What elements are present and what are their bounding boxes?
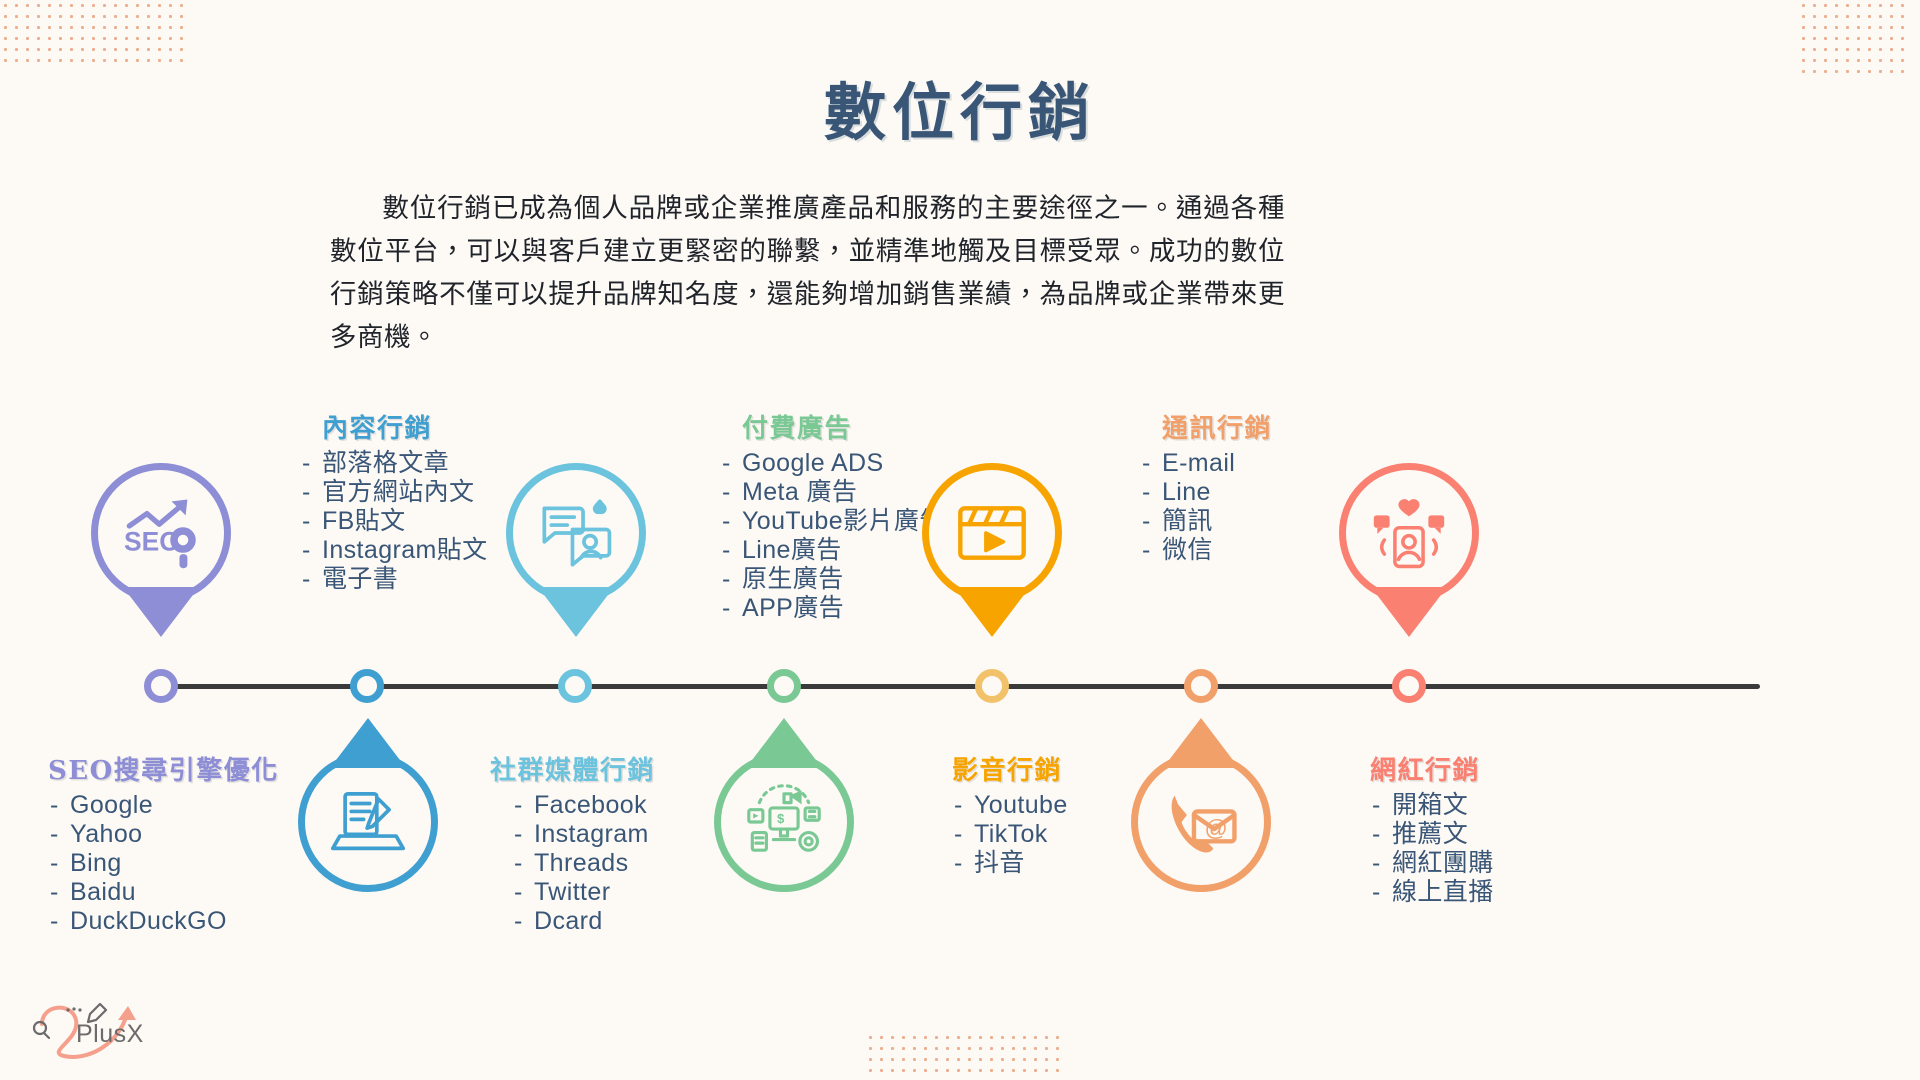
pin-communication-marketing[interactable]: @	[1131, 752, 1271, 892]
list-item: E-mail	[1140, 449, 1272, 478]
block-communication-list: E-mail Line 簡訊 微信	[1140, 449, 1272, 565]
pin-content-marketing[interactable]	[298, 752, 438, 892]
decorative-dot-grid-top-left	[0, 0, 190, 62]
block-paid-advertising: 付費廣告 Google ADS Meta 廣告 YouTube影片廣告 Line…	[720, 408, 945, 623]
list-item: 推薦文	[1370, 820, 1494, 849]
block-social-list: Facebook Instagram Threads Twitter Dcard	[490, 791, 655, 936]
list-item: 原生廣告	[720, 565, 945, 594]
list-item: Dcard	[512, 907, 655, 936]
timeline-node-paid[interactable]	[767, 669, 801, 703]
pin-social-media[interactable]	[506, 463, 646, 603]
block-content-list: 部落格文章 官方網站內文 FB貼文 Instagram貼文 電子書	[300, 449, 488, 594]
decorative-dot-grid-bottom-center	[865, 1032, 1060, 1072]
block-content-marketing: 內容行銷 部落格文章 官方網站內文 FB貼文 Instagram貼文 電子書	[300, 408, 488, 594]
list-item: Threads	[512, 849, 655, 878]
block-social-heading: 社群媒體行銷	[490, 750, 655, 787]
list-item: 抖音	[952, 849, 1068, 878]
list-item: Google	[48, 791, 279, 820]
block-video-heading: 影音行銷	[930, 750, 1068, 787]
intro-paragraph: 數位行銷已成為個人品牌或企業推廣產品和服務的主要途徑之一。通過各種數位平台，可以…	[330, 188, 1285, 360]
block-video-list: Youtube TikTok 抖音	[930, 791, 1068, 878]
pin-influencer-marketing[interactable]	[1339, 463, 1479, 603]
list-item: Instagram	[512, 820, 655, 849]
megaphone-screen-target-icon: $	[714, 752, 854, 892]
list-item: DuckDuckGO	[48, 907, 279, 936]
list-item: Facebook	[512, 791, 655, 820]
phone-envelope-at-icon: @	[1131, 752, 1271, 892]
block-communication-heading: 通訊行銷	[1140, 408, 1272, 445]
list-item: 官方網站內文	[300, 478, 488, 507]
plusx-logo: PlusX	[24, 990, 174, 1062]
list-item: TikTok	[952, 820, 1068, 849]
list-item: FB貼文	[300, 507, 488, 536]
list-item: 部落格文章	[300, 449, 488, 478]
list-item: 微信	[1140, 536, 1272, 565]
svg-text:@: @	[1205, 815, 1228, 841]
pin-seo[interactable]: SEO	[91, 463, 231, 603]
seo-chart-magnifier-icon: SEO	[91, 463, 231, 603]
timeline-node-influencer[interactable]	[1392, 669, 1426, 703]
list-item: 開箱文	[1370, 791, 1494, 820]
block-influencer-marketing: 網紅行銷 開箱文 推薦文 網紅團購 線上直播	[1348, 750, 1494, 907]
block-video-marketing: 影音行銷 Youtube TikTok 抖音	[930, 750, 1068, 878]
list-item: Meta 廣告	[720, 478, 945, 507]
block-seo-list: Google Yahoo Bing Baidu DuckDuckGO	[48, 791, 279, 936]
timeline-node-social[interactable]	[558, 669, 592, 703]
block-content-heading: 內容行銷	[300, 408, 488, 445]
video-play-clapboard-icon	[922, 463, 1062, 603]
list-item: Line	[1140, 478, 1272, 507]
list-item: 簡訊	[1140, 507, 1272, 536]
list-item: Bing	[48, 849, 279, 878]
list-item: 線上直播	[1370, 878, 1494, 907]
timeline-node-communication[interactable]	[1184, 669, 1218, 703]
block-seo-heading: SEO搜尋引擎優化	[48, 750, 279, 787]
list-item: 電子書	[300, 565, 488, 594]
list-item: Line廣告	[720, 536, 945, 565]
plusx-logo-text: PlusX	[76, 1020, 144, 1049]
list-item: Instagram貼文	[300, 536, 488, 565]
list-item: Google ADS	[720, 449, 945, 478]
svg-text:$: $	[777, 811, 785, 826]
block-influencer-heading: 網紅行銷	[1348, 750, 1494, 787]
list-item: APP廣告	[720, 594, 945, 623]
phone-person-hearts-icon	[1339, 463, 1479, 603]
timeline-node-video[interactable]	[975, 669, 1009, 703]
list-item: Youtube	[952, 791, 1068, 820]
page-title: 數位行銷	[0, 62, 1920, 152]
list-item: Twitter	[512, 878, 655, 907]
list-item: Baidu	[48, 878, 279, 907]
pin-paid-advertising[interactable]: $	[714, 752, 854, 892]
list-item: Yahoo	[48, 820, 279, 849]
list-item: YouTube影片廣告	[720, 507, 945, 536]
block-seo: SEO搜尋引擎優化 Google Yahoo Bing Baidu DuckDu…	[48, 750, 279, 936]
block-communication-marketing: 通訊行銷 E-mail Line 簡訊 微信	[1140, 408, 1272, 565]
chat-bubbles-icon	[506, 463, 646, 603]
block-paid-list: Google ADS Meta 廣告 YouTube影片廣告 Line廣告 原生…	[720, 449, 945, 623]
timeline-axis	[160, 684, 1760, 689]
pin-video-marketing[interactable]	[922, 463, 1062, 603]
timeline-node-seo[interactable]	[144, 669, 178, 703]
list-item: 網紅團購	[1370, 849, 1494, 878]
intro-text: 數位行銷已成為個人品牌或企業推廣產品和服務的主要途徑之一。通過各種數位平台，可以…	[330, 193, 1285, 353]
document-pen-laptop-icon	[298, 752, 438, 892]
block-social-media: 社群媒體行銷 Facebook Instagram Threads Twitte…	[490, 750, 655, 936]
block-influencer-list: 開箱文 推薦文 網紅團購 線上直播	[1348, 791, 1494, 907]
block-paid-heading: 付費廣告	[720, 408, 945, 445]
timeline-node-content[interactable]	[350, 669, 384, 703]
